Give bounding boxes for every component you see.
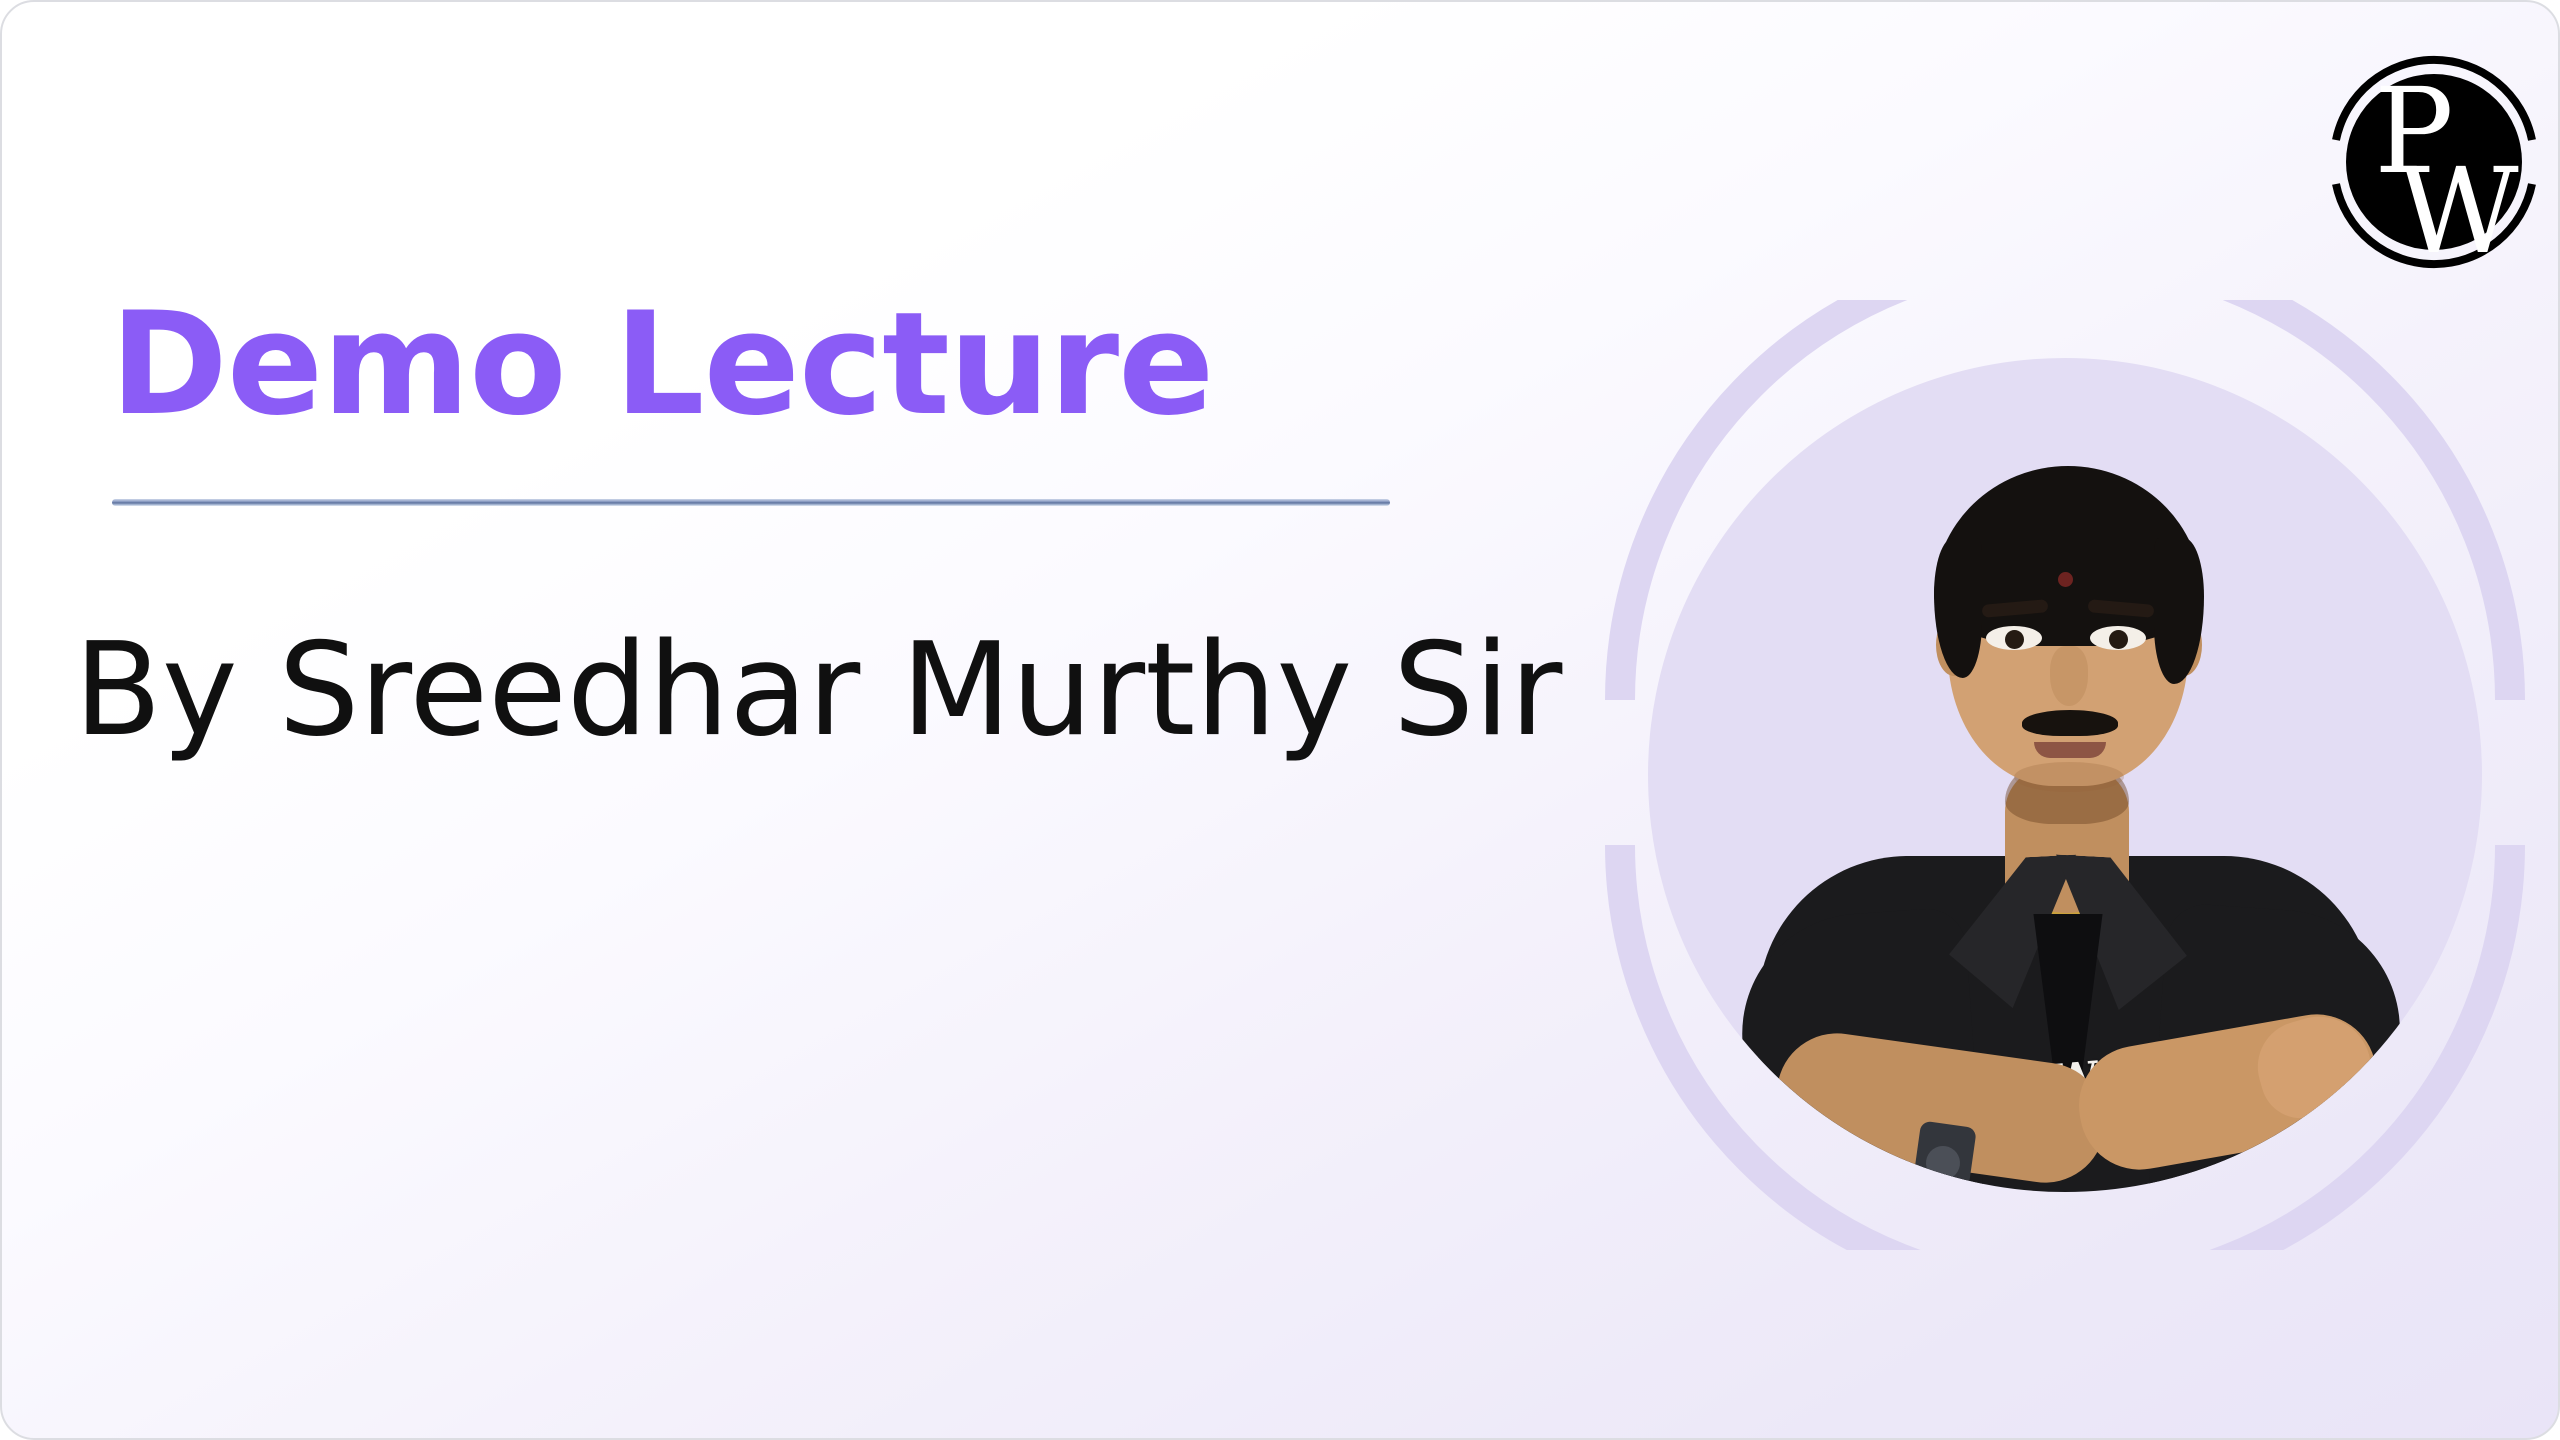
svg-text:W: W	[2397, 142, 2518, 278]
chin-shadow	[2014, 762, 2124, 792]
nose	[2050, 646, 2088, 706]
instructor-figure: Physics Wallah	[1648, 358, 2482, 1192]
title-divider	[112, 499, 1390, 506]
portrait-disc: Physics Wallah	[1648, 358, 2482, 1192]
pupil-left	[2005, 630, 2024, 649]
forehead-dot	[2058, 572, 2073, 587]
pw-logo: P W	[2318, 46, 2550, 278]
mouth	[2034, 742, 2106, 758]
presenter-name: By Sreedhar Murthy Sir	[74, 618, 1562, 764]
moustache	[2022, 710, 2118, 736]
headline-block: Demo Lecture	[110, 290, 1430, 441]
pupil-right	[2109, 630, 2128, 649]
disc-bottom-fade	[1648, 1146, 2482, 1192]
page-title: Demo Lecture	[110, 290, 1430, 441]
instructor-portrait: Physics Wallah	[1590, 300, 2540, 1250]
slide-canvas: P W Demo Lecture By Sreedhar Murthy Sir	[0, 0, 2560, 1440]
